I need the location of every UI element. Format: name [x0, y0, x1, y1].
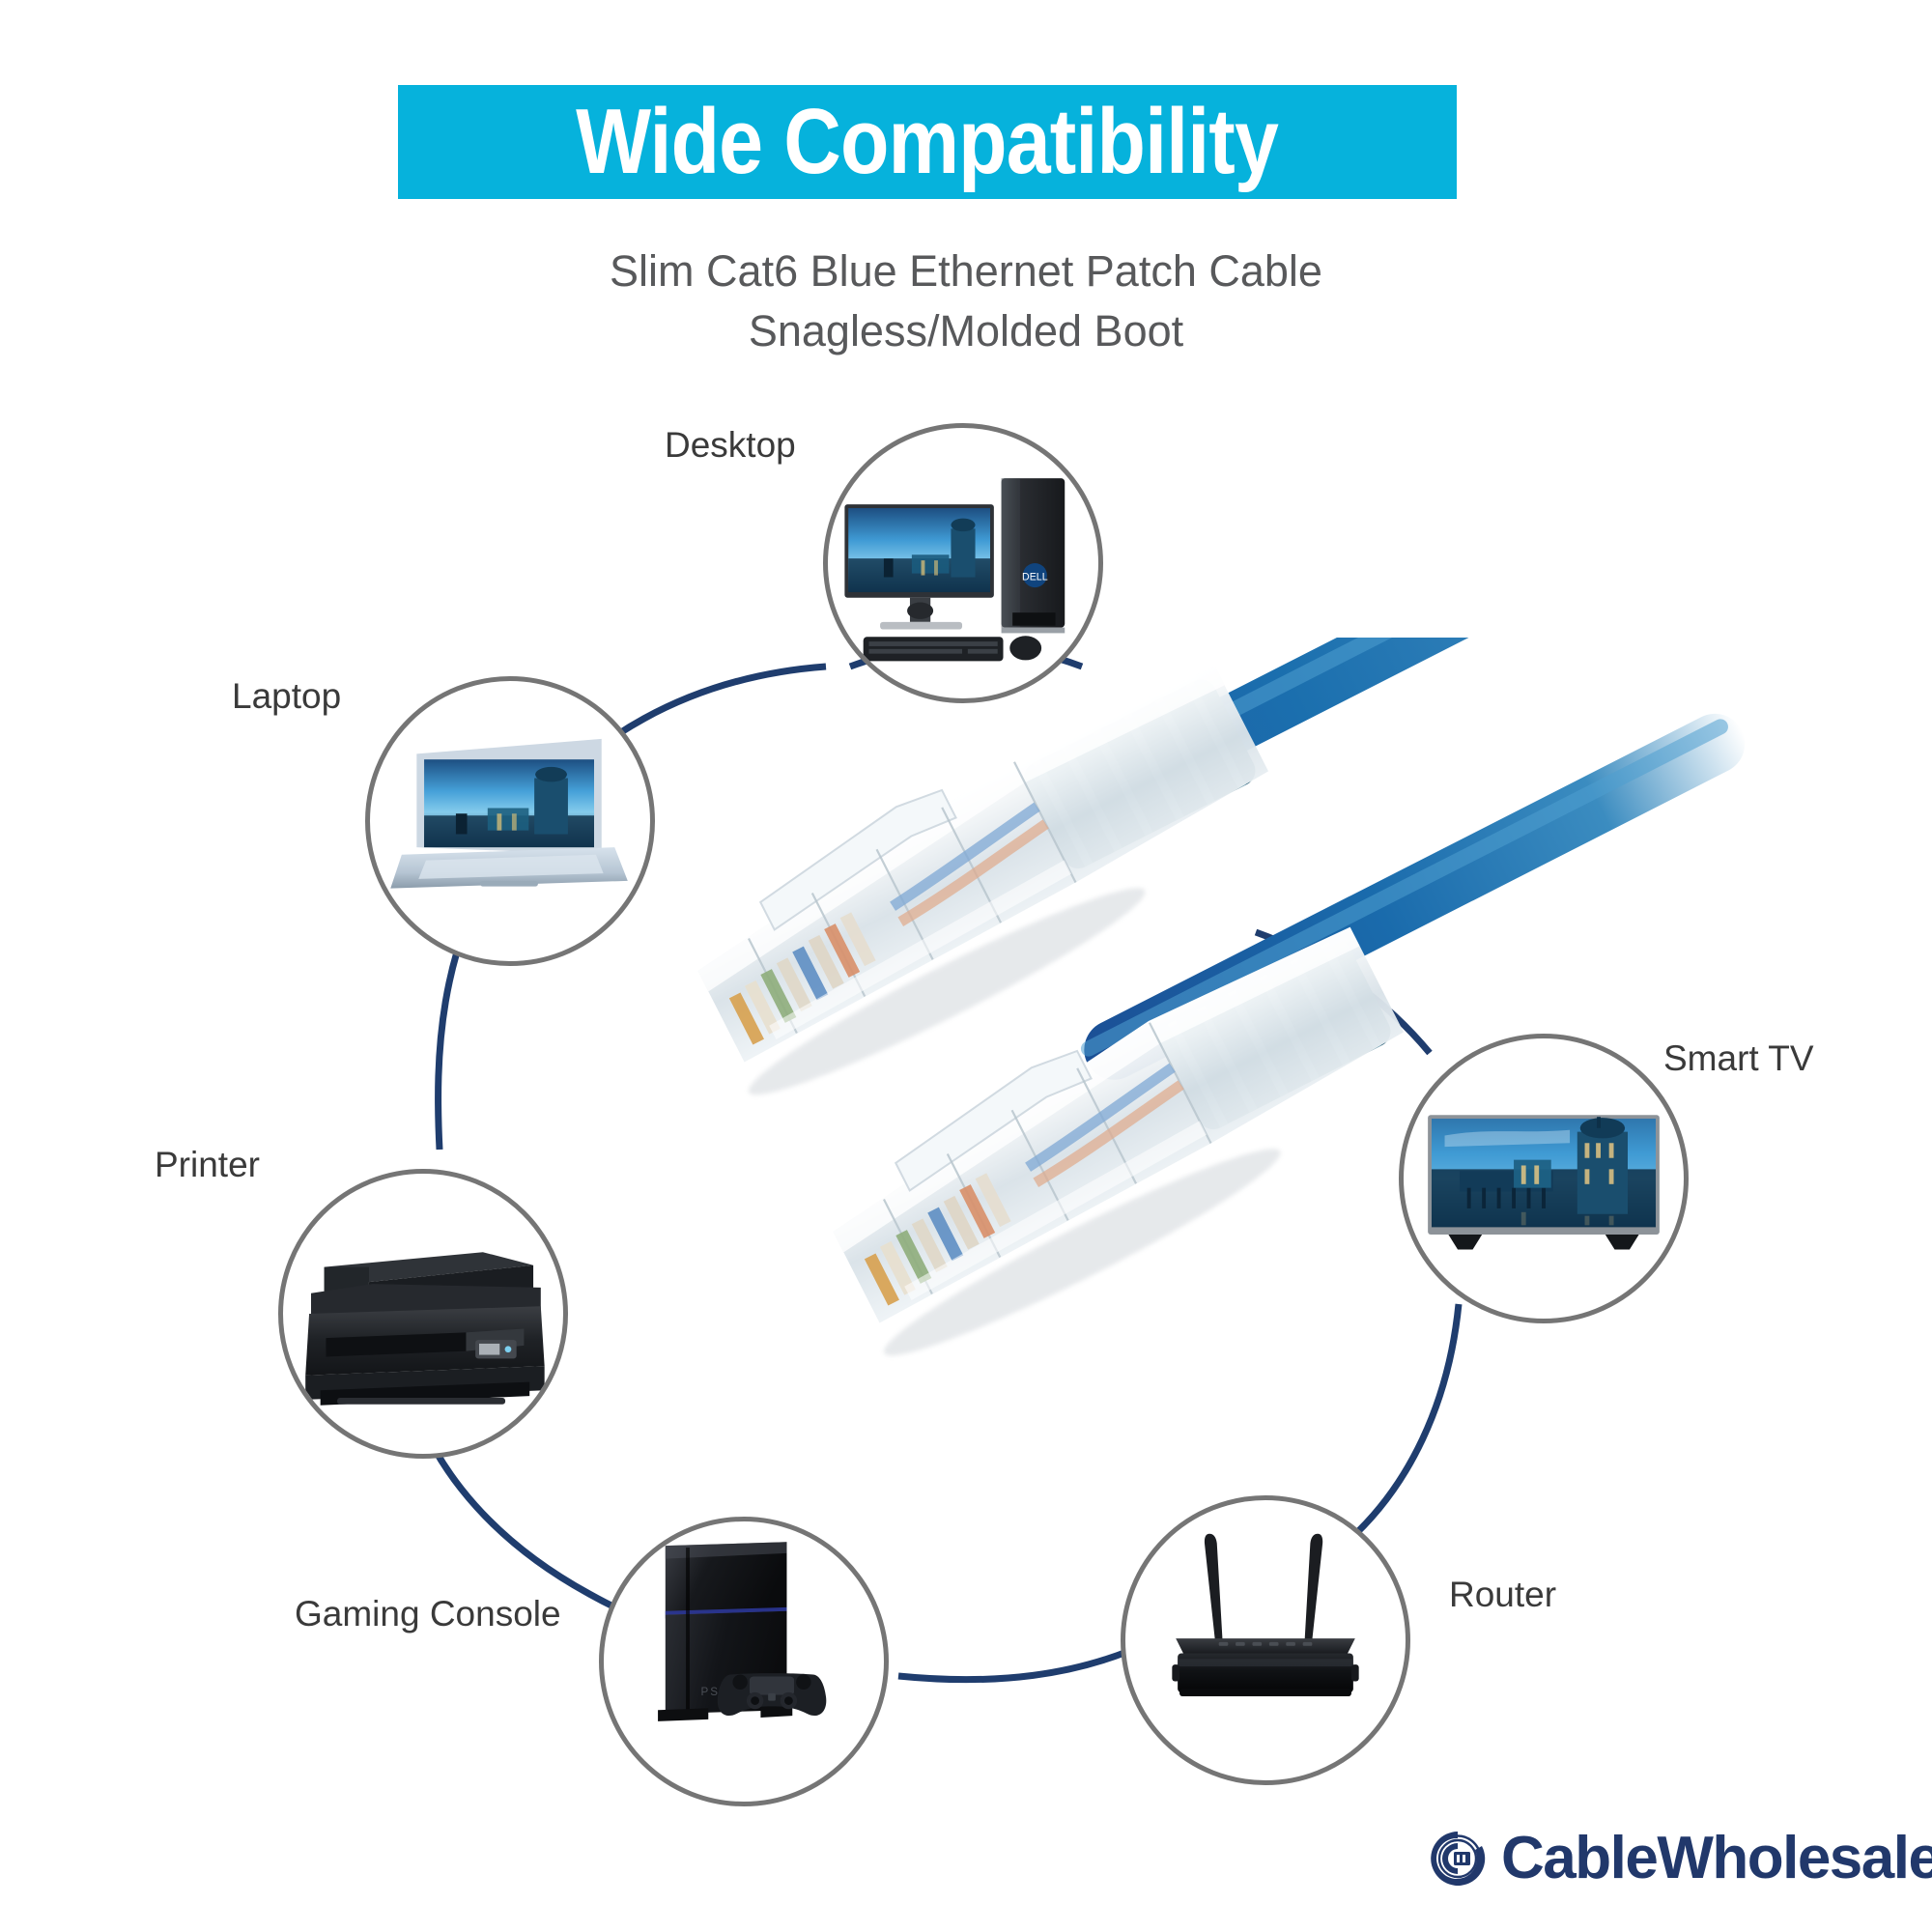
brand-name: CableWholesale	[1501, 1824, 1932, 1892]
laptop-label: Laptop	[232, 676, 341, 717]
page-title: Wide Compatibility	[577, 96, 1279, 188]
product-photo-rj45-cable	[541, 638, 1932, 1604]
desktop-computer-icon: DELL	[828, 428, 1098, 698]
cablewholesale-c-emblem	[1428, 1829, 1488, 1889]
subtitle-line-2: Snagless/Molded Boot	[0, 301, 1932, 361]
smart-tv-label: Smart TV	[1663, 1038, 1814, 1079]
printer-circle[interactable]	[278, 1169, 568, 1459]
printer-icon	[283, 1174, 563, 1454]
printer-label: Printer	[155, 1145, 260, 1185]
brand-logo[interactable]: CableWholesale	[1428, 1824, 1932, 1892]
gaming-console-label: Gaming Console	[295, 1594, 561, 1634]
product-subtitle: Slim Cat6 Blue Ethernet Patch Cable Snag…	[0, 241, 1932, 361]
infographic-canvas: Wide Compatibility Slim Cat6 Blue Ethern…	[0, 0, 1932, 1932]
game-console-icon: PS4	[604, 1521, 884, 1802]
router-label: Router	[1449, 1575, 1556, 1615]
smart-tv-circle[interactable]	[1399, 1034, 1689, 1323]
laptop-circle[interactable]	[365, 676, 655, 966]
svg-text:DELL: DELL	[1022, 571, 1048, 582]
television-icon	[1404, 1038, 1684, 1319]
wifi-router-icon	[1125, 1500, 1406, 1780]
subtitle-line-1: Slim Cat6 Blue Ethernet Patch Cable	[0, 241, 1932, 301]
title-banner: Wide Compatibility	[398, 85, 1457, 199]
desktop-circle[interactable]: DELL	[823, 423, 1103, 703]
router-circle[interactable]	[1121, 1495, 1410, 1785]
desktop-label: Desktop	[665, 425, 796, 466]
laptop-icon	[370, 681, 650, 961]
gaming-console-circle[interactable]: PS4	[599, 1517, 889, 1806]
